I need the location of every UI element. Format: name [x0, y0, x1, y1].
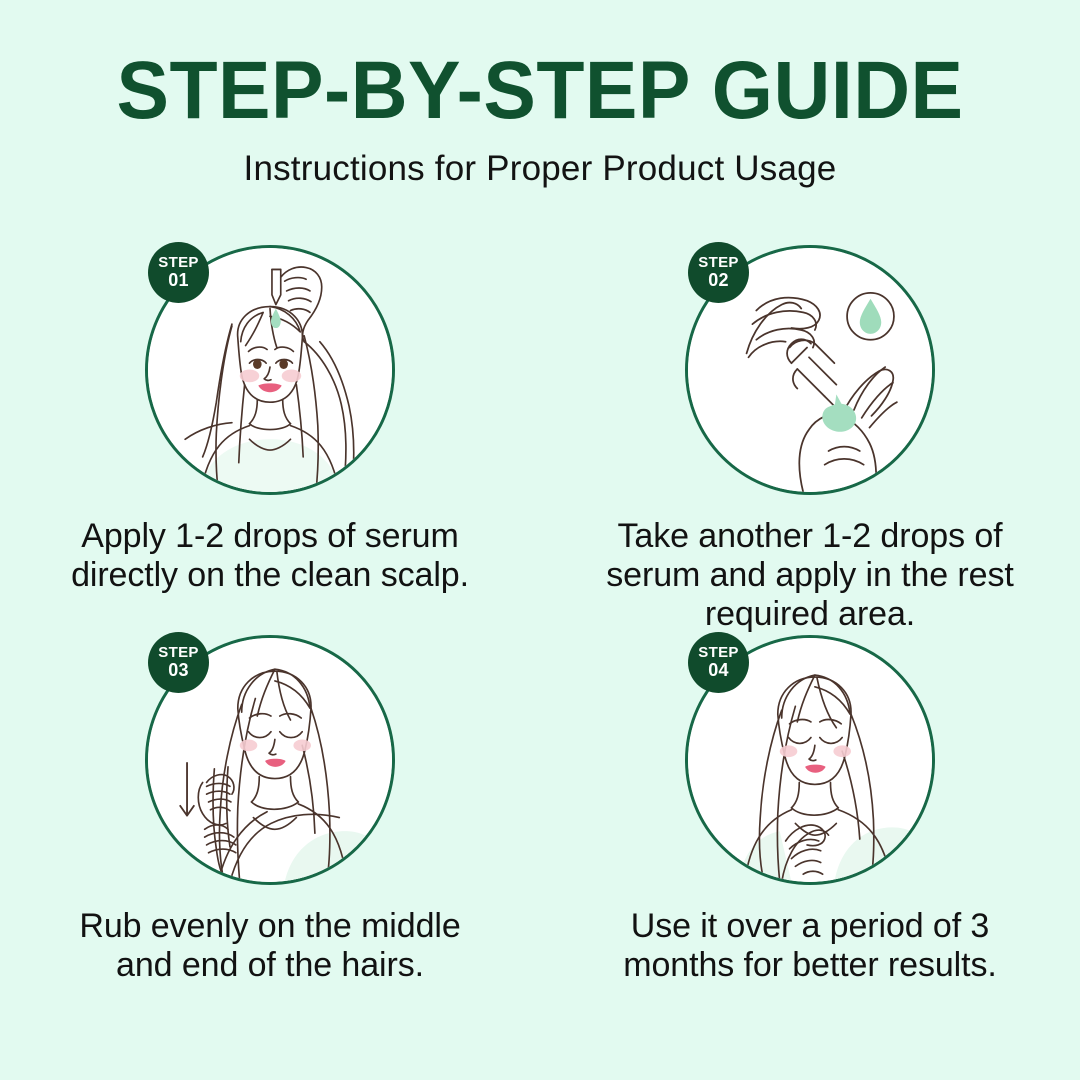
- step-badge-number: 02: [708, 271, 729, 290]
- step-badge-01: STEP 01: [148, 242, 209, 303]
- step-badge-04: STEP 04: [688, 632, 749, 693]
- step-caption-01: Apply 1-2 drops of serum directly on the…: [60, 517, 480, 595]
- step-caption-02: Take another 1-2 drops of serum and appl…: [600, 517, 1020, 634]
- step-badge-03: STEP 03: [148, 632, 209, 693]
- header: STEP-BY-STEP GUIDE Instructions for Prop…: [0, 48, 1080, 190]
- step-badge-number: 04: [708, 661, 729, 680]
- step-badge-word: STEP: [158, 645, 198, 660]
- step-badge-word: STEP: [158, 255, 198, 270]
- step-card-04: STEP 04 Use it over a period of 3 months…: [540, 635, 1080, 1025]
- step-illustration-wrap-04: STEP 04: [685, 635, 935, 885]
- page-subtitle: Instructions for Proper Product Usage: [0, 148, 1080, 190]
- step-card-01: STEP 01 Apply 1-2 drops of serum directl…: [0, 245, 540, 635]
- step-illustration-wrap-02: STEP 02: [685, 245, 935, 495]
- step-illustration-wrap-01: STEP 01: [145, 245, 395, 495]
- step-caption-04: Use it over a period of 3 months for bet…: [600, 907, 1020, 985]
- step-illustration-wrap-03: STEP 03: [145, 635, 395, 885]
- step-badge-02: STEP 02: [688, 242, 749, 303]
- step-badge-number: 01: [168, 271, 189, 290]
- step-card-02: STEP 02 Take another 1-2 drops of serum …: [540, 245, 1080, 635]
- step-by-step-guide-poster: STEP-BY-STEP GUIDE Instructions for Prop…: [0, 0, 1080, 1080]
- step-card-03: STEP 03 Rub evenly on the middle and end…: [0, 635, 540, 1025]
- step-badge-word: STEP: [698, 645, 738, 660]
- step-badge-number: 03: [168, 661, 189, 680]
- step-badge-word: STEP: [698, 255, 738, 270]
- steps-grid: STEP 01 Apply 1-2 drops of serum directl…: [0, 245, 1080, 1025]
- page-title: STEP-BY-STEP GUIDE: [22, 48, 1059, 134]
- step-caption-03: Rub evenly on the middle and end of the …: [60, 907, 480, 985]
